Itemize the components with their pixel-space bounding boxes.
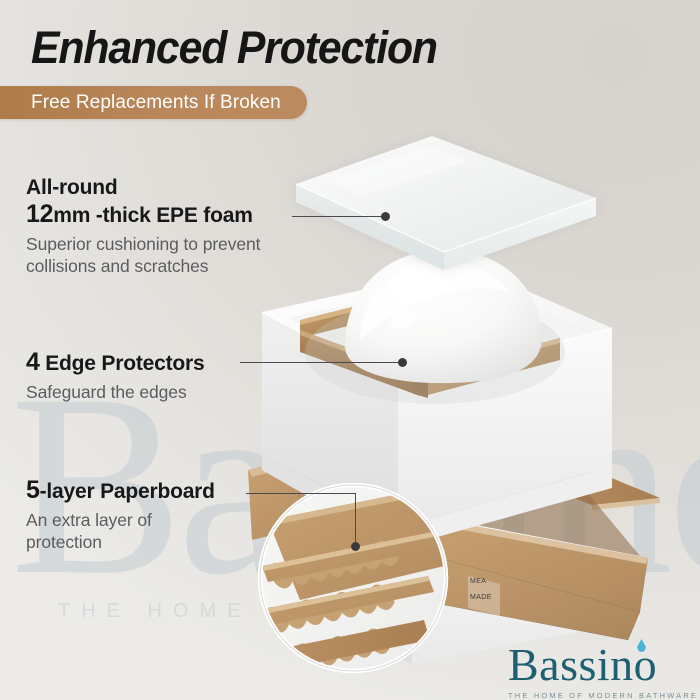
callout-edge-protectors: 4 Edge Protectors Safeguard the edges	[26, 348, 204, 403]
callout-edge-protectors-number: 4	[26, 348, 40, 376]
brand-logo: Bassino THE HOME OF MODERN BATHWARE	[508, 642, 693, 700]
callout-paperboard-heading: 5-layer Paperboard	[26, 476, 226, 504]
leader-dot-paperboard	[351, 542, 360, 551]
callout-edge-protectors-line2: Edge Protectors	[40, 352, 205, 375]
infographic-canvas: Bassino THE HOME OF MODERN	[0, 0, 700, 700]
leader-line-paperboard	[246, 493, 356, 494]
brand-logo-name: Bassino	[508, 642, 693, 688]
callout-edge-protectors-heading: 4 Edge Protectors	[26, 348, 204, 376]
product-basin	[305, 250, 565, 404]
callout-epe-foam-line2: mm -thick EPE foam	[53, 204, 252, 227]
page-title: Enhanced Protection	[31, 22, 437, 74]
leader-dot-epe-foam	[381, 212, 390, 221]
brand-logo-name-text: Bassino	[508, 639, 657, 690]
callout-paperboard-number: 5	[26, 476, 40, 504]
leader-line-epe-foam	[292, 216, 384, 217]
leader-line-paperboard-vertical	[355, 493, 356, 544]
carton-print-line-2: MADE	[470, 594, 492, 601]
callout-epe-foam: All-round 12mm -thick EPE foam Superior …	[26, 176, 316, 277]
callout-paperboard-description: An extra layer of protection	[26, 509, 226, 554]
callout-epe-foam-description: Superior cushioning to prevent collision…	[26, 233, 316, 278]
guarantee-banner: Free Replacements If Broken	[0, 86, 307, 119]
leader-dot-edge-protectors	[398, 358, 407, 367]
epe-foam-sheet	[296, 136, 596, 270]
callout-epe-foam-heading: All-round 12mm -thick EPE foam	[26, 176, 316, 228]
callout-epe-foam-number: 12	[26, 200, 53, 228]
callout-paperboard: 5-layer Paperboard An extra layer of pro…	[26, 476, 226, 554]
callout-edge-protectors-description: Safeguard the edges	[26, 381, 204, 403]
brand-logo-tagline: THE HOME OF MODERN BATHWARE	[508, 691, 693, 700]
callout-paperboard-line2: -layer Paperboard	[40, 480, 215, 503]
guarantee-banner-label: Free Replacements If Broken	[31, 92, 281, 114]
callout-epe-foam-line1: All-round	[26, 176, 118, 199]
leader-line-edge-protectors	[240, 362, 402, 363]
carton-print-line-1: MEA	[470, 578, 486, 585]
